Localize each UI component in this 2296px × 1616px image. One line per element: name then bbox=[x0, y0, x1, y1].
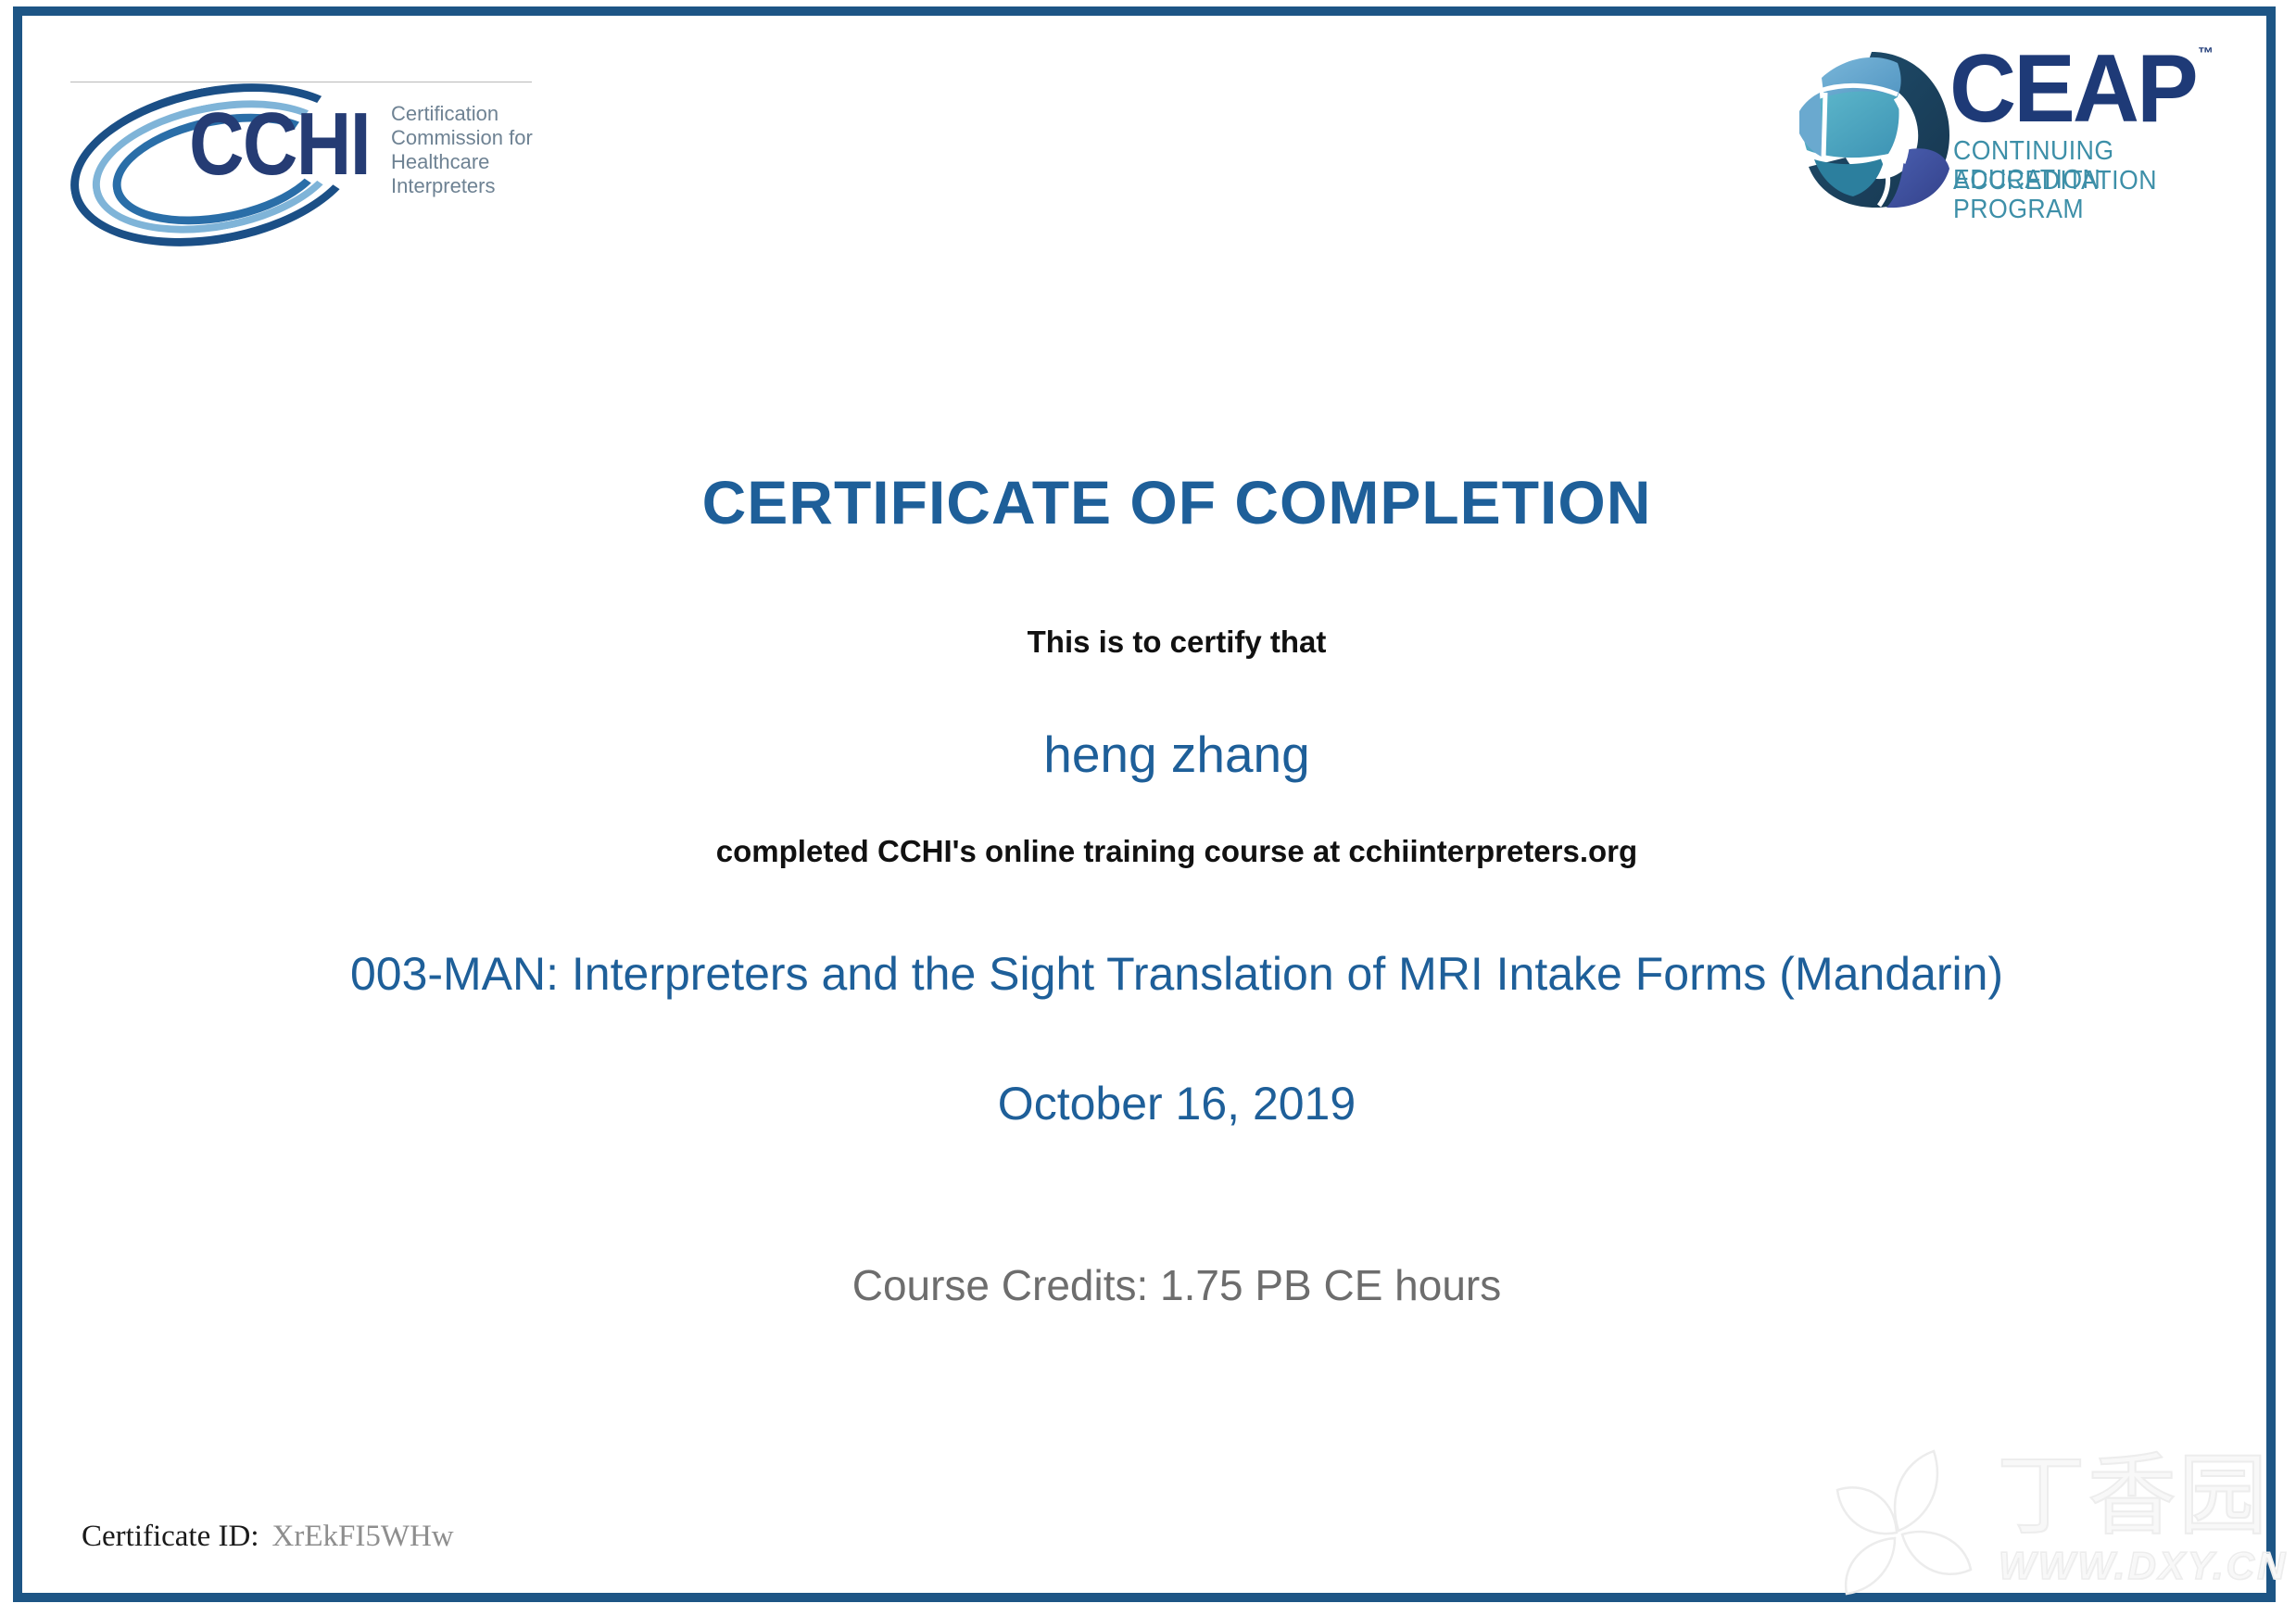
completion-date: October 16, 2019 bbox=[0, 1077, 2296, 1130]
cchi-logo-rule bbox=[70, 82, 532, 82]
cchi-tagline-line-1: Certification bbox=[391, 102, 533, 126]
cchi-tagline-line-4: Interpreters bbox=[391, 174, 533, 198]
dxy-watermark: 丁香园 WWW.DXY.CN bbox=[1830, 1446, 2265, 1598]
cchi-wordmark: CCHI bbox=[189, 100, 370, 189]
ceap-wordmark: CEAP bbox=[1949, 41, 2196, 137]
watermark-url-text: WWW.DXY.CN bbox=[1999, 1546, 2288, 1586]
certificate-border bbox=[13, 6, 2276, 1602]
cchi-tagline: Certification Commission for Healthcare … bbox=[391, 102, 533, 198]
cchi-tagline-line-3: Healthcare bbox=[391, 150, 533, 174]
course-title: 003-MAN: Interpreters and the Sight Tran… bbox=[0, 947, 2296, 1001]
recipient-name: heng zhang bbox=[0, 725, 2296, 784]
ceap-logo: CEAP ™ CONTINUING EDUCATION ACCREDITATIO… bbox=[1786, 39, 2213, 215]
cchi-tagline-line-2: Commission for bbox=[391, 126, 533, 150]
certificate-id-label: Certificate ID: bbox=[82, 1520, 259, 1553]
ceap-globe-icon bbox=[1786, 46, 1953, 211]
cchi-logo: CCHI Certification Commission for Health… bbox=[67, 56, 549, 222]
certify-statement: This is to certify that bbox=[0, 625, 2296, 660]
completion-statement: completed CCHI's online training course … bbox=[0, 834, 2296, 869]
leaf-icon bbox=[1830, 1449, 1992, 1597]
certificate-title: CERTIFICATE OF COMPLETION bbox=[0, 467, 2296, 537]
certificate-id-value: XrEkFI5WHw bbox=[272, 1520, 454, 1553]
ceap-trademark-icon: ™ bbox=[2198, 44, 2214, 63]
ceap-subtitle-line-2: ACCREDITATION PROGRAM bbox=[1953, 167, 2192, 224]
certificate-page: CCHI Certification Commission for Health… bbox=[0, 0, 2296, 1616]
watermark-chinese-text: 丁香园 bbox=[1997, 1451, 2269, 1540]
course-credits: Course Credits: 1.75 PB CE hours bbox=[0, 1260, 2296, 1310]
certificate-id: Certificate ID:XrEkFI5WHw bbox=[82, 1520, 454, 1554]
